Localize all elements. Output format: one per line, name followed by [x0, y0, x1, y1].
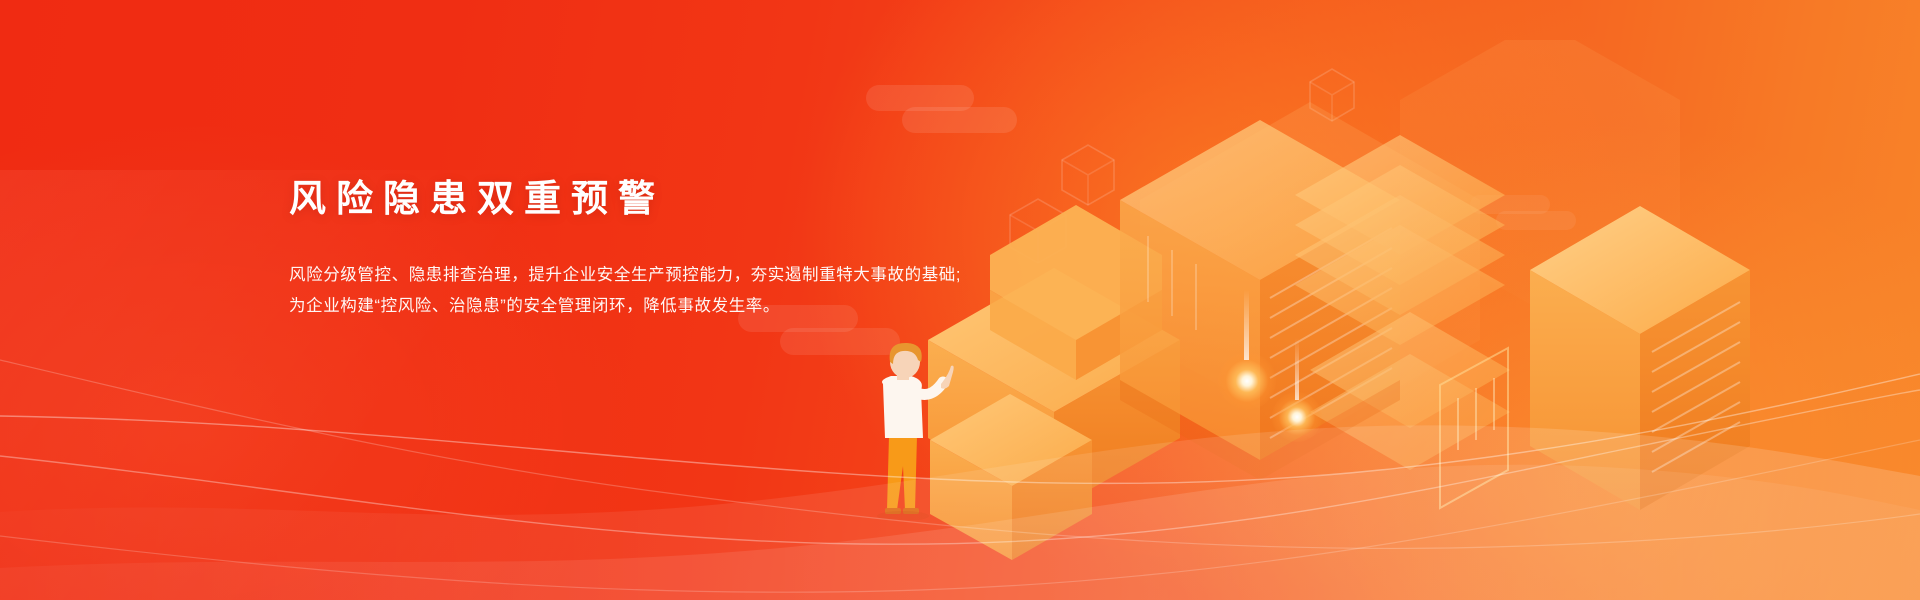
- risk-warning-banner: 风险隐患双重预警 风险分级管控、隐患排查治理，提升企业安全生产预控能力，夯实遏制…: [0, 0, 1920, 600]
- diagonal-sheen: [0, 170, 734, 600]
